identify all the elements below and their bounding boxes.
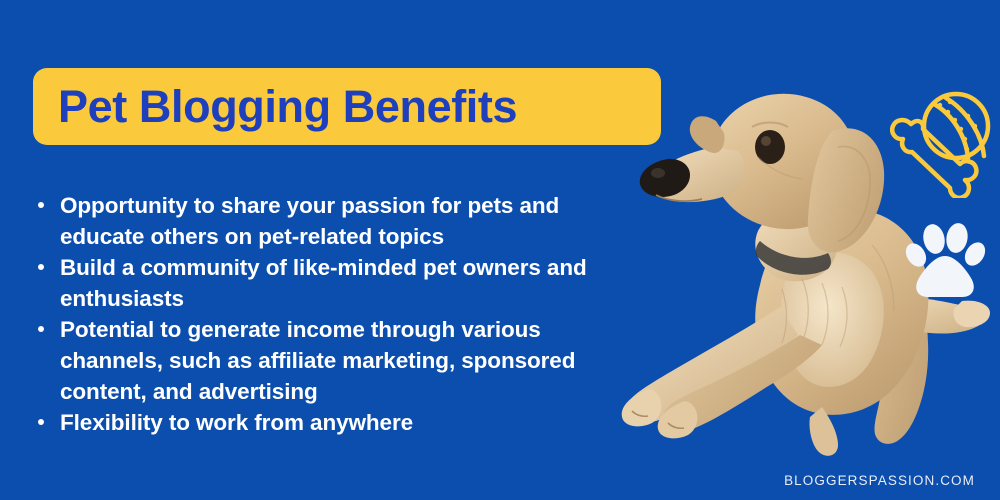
pet-blogging-benefits-banner: Pet Blogging Benefits Opportunity to sha… [0, 0, 1000, 500]
title-badge: Pet Blogging Benefits [33, 68, 661, 145]
list-item: Build a community of like-minded pet own… [33, 252, 633, 314]
list-item-label: Potential to generate income through var… [60, 317, 575, 404]
ball-stitches [938, 100, 983, 151]
list-item: Potential to generate income through var… [33, 314, 633, 407]
list-item: Flexibility to work from anywhere [33, 407, 633, 438]
list-item-label: Flexibility to work from anywhere [60, 410, 413, 435]
paw-print-icon [903, 218, 987, 302]
bullet-icon [38, 419, 44, 425]
bullet-icon [38, 326, 44, 332]
ball-and-bone-icon [890, 88, 996, 198]
bullet-icon [38, 264, 44, 270]
list-item: Opportunity to share your passion for pe… [33, 190, 633, 252]
list-item-label: Opportunity to share your passion for pe… [60, 193, 559, 249]
footer-credit: BLOGGERSPASSION.COM [784, 473, 975, 488]
bullet-icon [38, 202, 44, 208]
ball-icon [924, 94, 988, 158]
benefits-list: Opportunity to share your passion for pe… [33, 190, 633, 438]
page-title: Pet Blogging Benefits [58, 84, 517, 129]
list-item-label: Build a community of like-minded pet own… [60, 255, 587, 311]
